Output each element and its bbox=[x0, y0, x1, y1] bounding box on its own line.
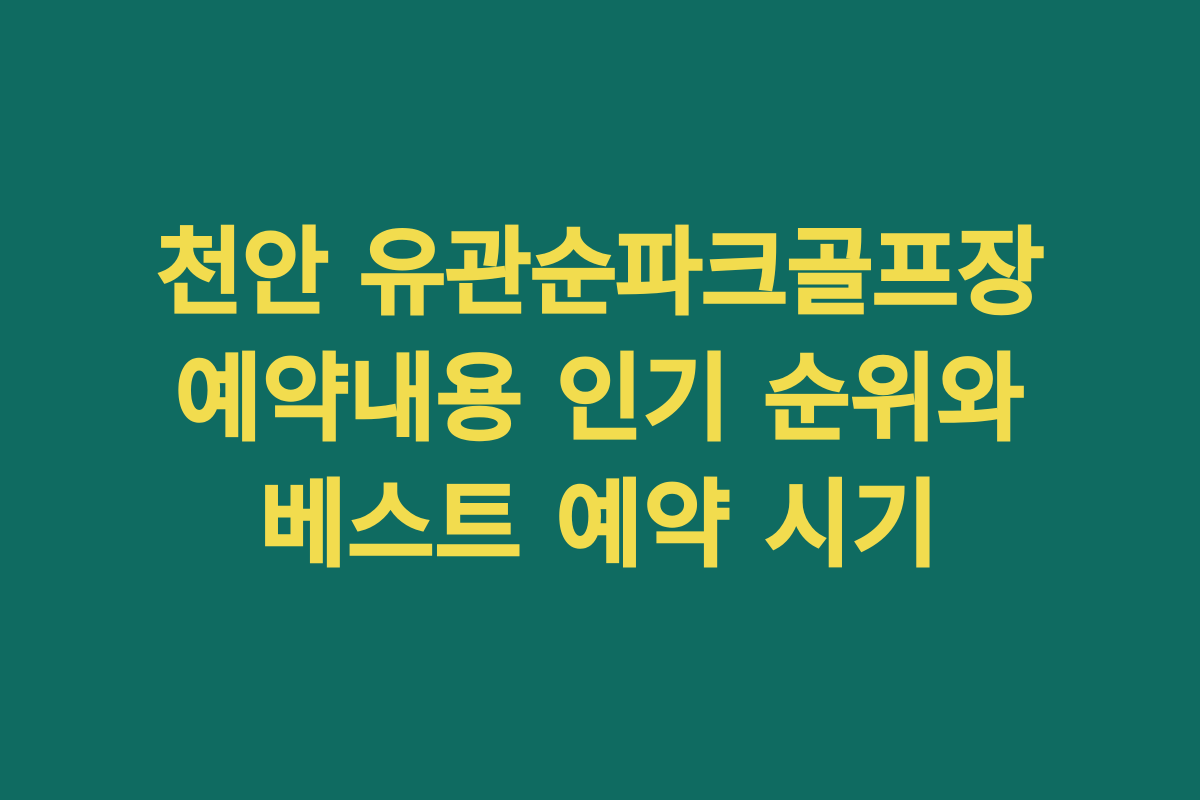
thumbnail-card: 천안 유관순파크골프장 예약내용 인기 순위와 베스트 예약 시기 bbox=[0, 0, 1200, 800]
headline-line-2: 예약내용 인기 순위와 bbox=[60, 337, 1140, 463]
headline-line-1: 천안 유관순파크골프장 bbox=[60, 211, 1140, 337]
headline-block: 천안 유관순파크골프장 예약내용 인기 순위와 베스트 예약 시기 bbox=[60, 211, 1140, 589]
headline-line-3: 베스트 예약 시기 bbox=[60, 463, 1140, 589]
